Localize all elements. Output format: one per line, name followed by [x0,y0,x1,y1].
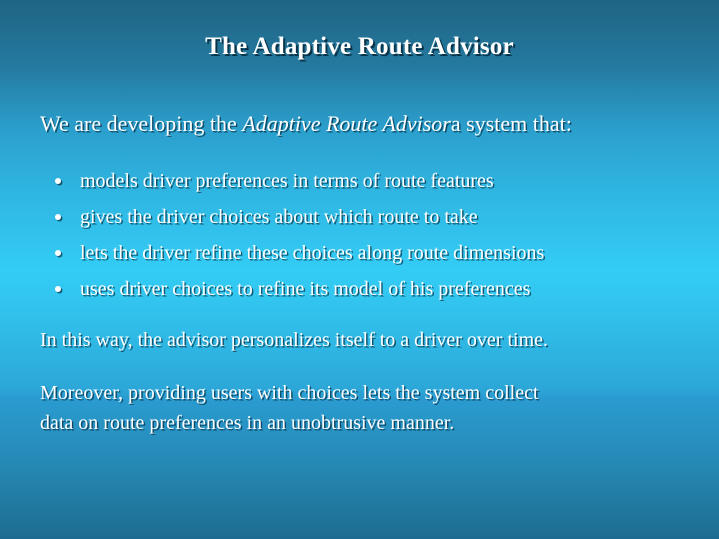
slide-title: The Adaptive Route Advisor [0,33,719,61]
product-name-italic: Adaptive Route Advisor [242,111,451,136]
bullet-dot-icon [55,286,61,292]
bullet-dot-icon [55,214,61,220]
bullet-list: models driver preferences in terms of ro… [0,163,719,307]
list-item-label: lets the driver refine these choices alo… [80,242,544,264]
closing-paragraph: Moreover, providing users with choices l… [40,378,680,438]
list-item-label: gives the driver choices about which rou… [80,206,478,228]
closing-sentence: In this way, the advisor personalizes it… [40,329,548,352]
closing-paragraph-line-1: Moreover, providing users with choices l… [40,378,680,408]
list-item: models driver preferences in terms of ro… [0,163,719,199]
closing-paragraph-line-2: data on route preferences in an unobtrus… [40,408,680,438]
intro-text-before-italic: We are developing the [40,111,242,136]
bullet-dot-icon [55,178,61,184]
presentation-slide: The Adaptive Route Advisor We are develo… [0,0,719,539]
intro-text-after-italic: a system that: [451,111,572,136]
intro-sentence: We are developing the Adaptive Route Adv… [40,111,572,137]
list-item-label: uses driver choices to refine its model … [80,278,530,300]
list-item: gives the driver choices about which rou… [0,199,719,235]
list-item-label: models driver preferences in terms of ro… [80,170,494,192]
bullet-dot-icon [55,250,61,256]
list-item: uses driver choices to refine its model … [0,271,719,307]
list-item: lets the driver refine these choices alo… [0,235,719,271]
